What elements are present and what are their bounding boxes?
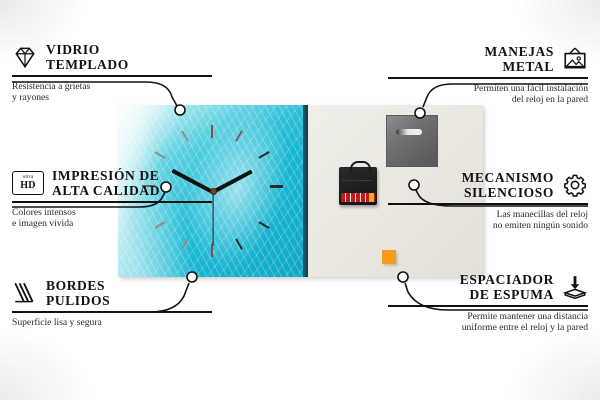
feature-title: BORDESPULIDOS <box>46 278 110 308</box>
orange-foam-spacer <box>382 250 396 264</box>
clock-tick <box>270 185 283 188</box>
quartz-movement <box>339 167 377 205</box>
feature-manejas-metal: MANEJASMETAL Permiten una fácil instalac… <box>388 44 588 106</box>
feature-divider <box>12 311 212 313</box>
feature-bordes-pulidos: BORDESPULIDOS Superficie lisa y segura <box>12 278 212 328</box>
clock-tick <box>211 125 213 138</box>
feature-description: Superficie lisa y segura <box>12 317 212 329</box>
feature-heading-row: BORDESPULIDOS <box>12 278 212 308</box>
ultra-hd-icon-main-label: HD <box>20 181 35 191</box>
feature-divider <box>12 201 212 203</box>
feature-espaciador-espuma: ESPACIADORDE ESPUMA Permite mantener una… <box>388 272 588 334</box>
feature-title: IMPRESIÓN DEALTA CALIDAD <box>52 168 160 198</box>
clock-second-hand <box>212 192 213 246</box>
feature-mecanismo-silencioso: MECANISMOSILENCIOSO Las manecillas del r… <box>388 170 588 232</box>
wall-hanger-icon <box>562 46 588 72</box>
feature-title: MECANISMOSILENCIOSO <box>462 170 554 200</box>
clock-tick <box>211 244 213 257</box>
feature-title: MANEJASMETAL <box>485 44 554 74</box>
feature-description: Las manecillas del relojno emiten ningún… <box>388 209 588 232</box>
feature-divider <box>388 77 588 79</box>
feature-title: ESPACIADORDE ESPUMA <box>460 272 554 302</box>
feature-title: VIDRIOTEMPLADO <box>46 42 129 72</box>
feature-description: Permite mantener una distanciauniforme e… <box>388 311 588 334</box>
feature-heading-row: ESPACIADORDE ESPUMA <box>388 272 588 302</box>
diamond-icon <box>12 44 38 70</box>
feature-heading-row: ultra HD IMPRESIÓN DEALTA CALIDAD <box>12 168 212 198</box>
feature-description: Permiten una fácil instalacióndel reloj … <box>388 83 588 106</box>
feature-impresion-alta-calidad: ultra HD IMPRESIÓN DEALTA CALIDAD Colore… <box>12 168 212 230</box>
feature-heading-row: MANEJASMETAL <box>388 44 588 74</box>
movement-seam <box>342 180 372 181</box>
feature-divider <box>12 75 212 77</box>
infographic-canvas: VIDRIOTEMPLADO Resistencia a grietasy ra… <box>0 0 600 400</box>
ultra-hd-icon: ultra HD <box>12 171 44 195</box>
feature-vidrio-templado: VIDRIOTEMPLADO Resistencia a grietasy ra… <box>12 42 212 104</box>
feature-heading-row: MECANISMOSILENCIOSO <box>388 170 588 200</box>
gear-icon <box>562 172 588 198</box>
metal-wall-hanger <box>386 115 438 167</box>
feature-heading-row: VIDRIOTEMPLADO <box>12 42 212 72</box>
feature-divider <box>388 203 588 205</box>
feature-description: Colores intensose imagen vívida <box>12 207 212 230</box>
polished-edges-icon <box>12 280 38 306</box>
movement-hanging-loop <box>350 161 371 172</box>
battery-terminal <box>369 193 374 202</box>
feature-divider <box>388 305 588 307</box>
feature-description: Resistencia a grietasy rayones <box>12 81 212 104</box>
hanger-slot <box>396 129 422 135</box>
foam-spacer-icon <box>562 274 588 300</box>
